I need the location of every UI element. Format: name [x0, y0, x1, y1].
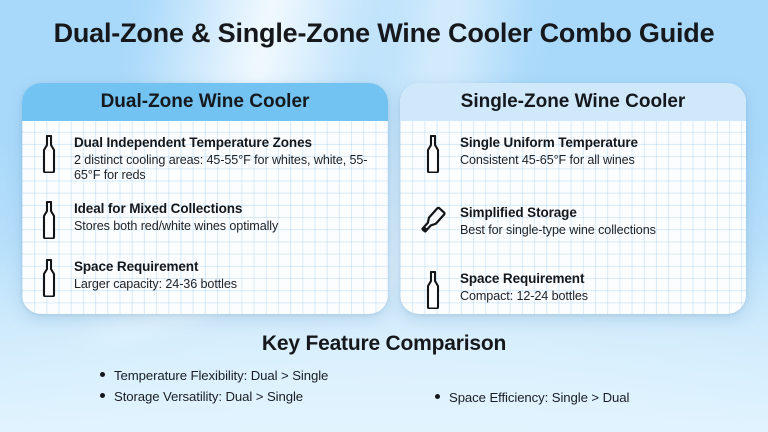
list-item-label: Storage Versatility: Dual > Single	[114, 386, 303, 407]
feature-title: Space Requirement	[460, 271, 584, 286]
wine-bottle-icon	[36, 257, 62, 297]
card-dual-zone: Dual-Zone Wine Cooler Dual Independent T…	[22, 83, 388, 314]
card-dual-zone-body: Dual Independent Temperature Zones 2 dis…	[22, 121, 388, 297]
feature-item: Single Uniform Temperature Consistent 45…	[418, 133, 732, 173]
feature-text: Single Uniform Temperature Consistent 45…	[460, 133, 638, 168]
wine-bottle-icon	[418, 133, 448, 173]
comparison-title: Key Feature Comparison	[0, 332, 768, 356]
wine-bottle-icon	[418, 269, 448, 309]
feature-text: Ideal for Mixed Collections Stores both …	[74, 199, 278, 234]
wine-bottle-icon	[36, 199, 62, 239]
bullet-icon	[435, 394, 440, 399]
feature-item: Space Requirement Compact: 12-24 bottles	[418, 269, 732, 309]
comparison-column-right: Space Efficiency: Single > Dual	[435, 387, 629, 408]
feature-text: Space Requirement Larger capacity: 24-36…	[74, 257, 237, 292]
comparison-column-left: Temperature Flexibility: Dual > Single S…	[100, 365, 328, 408]
feature-item: Ideal for Mixed Collections Stores both …	[36, 199, 374, 239]
card-dual-zone-header: Dual-Zone Wine Cooler	[22, 83, 388, 121]
comparison-columns: Temperature Flexibility: Dual > Single S…	[0, 365, 768, 423]
feature-text: Simplified Storage Best for single-type …	[460, 203, 656, 238]
feature-title: Simplified Storage	[460, 205, 577, 220]
feature-description: Stores both red/white wines optimally	[74, 219, 278, 234]
feature-description: Best for single-type wine collections	[460, 223, 656, 238]
feature-title: Single Uniform Temperature	[460, 135, 638, 150]
feature-title: Ideal for Mixed Collections	[74, 201, 242, 216]
feature-item: Space Requirement Larger capacity: 24-36…	[36, 257, 374, 297]
card-single-zone-body: Single Uniform Temperature Consistent 45…	[400, 121, 746, 309]
feature-description: Larger capacity: 24-36 bottles	[74, 277, 237, 292]
list-item: Temperature Flexibility: Dual > Single	[100, 365, 328, 386]
page-title: Dual-Zone & Single-Zone Wine Cooler Comb…	[0, 18, 768, 49]
list-item: Space Efficiency: Single > Dual	[435, 387, 629, 408]
feature-title: Dual Independent Temperature Zones	[74, 135, 312, 150]
list-item-label: Temperature Flexibility: Dual > Single	[114, 365, 328, 386]
feature-item: Simplified Storage Best for single-type …	[418, 203, 732, 243]
feature-text: Space Requirement Compact: 12-24 bottles	[460, 269, 588, 304]
feature-text: Dual Independent Temperature Zones 2 dis…	[74, 133, 374, 183]
card-single-zone-header: Single-Zone Wine Cooler	[400, 83, 746, 121]
list-item: Storage Versatility: Dual > Single	[100, 386, 328, 407]
feature-description: Compact: 12-24 bottles	[460, 289, 588, 304]
feature-item: Dual Independent Temperature Zones 2 dis…	[36, 133, 374, 183]
wine-bottle-icon	[36, 133, 62, 173]
tilted-wine-bottle-icon	[418, 203, 448, 243]
bullet-icon	[100, 372, 105, 377]
card-single-zone: Single-Zone Wine Cooler Single Uniform T…	[400, 83, 746, 314]
bullet-icon	[100, 393, 105, 398]
feature-title: Space Requirement	[74, 259, 198, 274]
key-feature-comparison-section: Key Feature Comparison Temperature Flexi…	[0, 332, 768, 423]
list-item-label: Space Efficiency: Single > Dual	[449, 387, 629, 408]
feature-description: Consistent 45-65°F for all wines	[460, 153, 638, 168]
feature-description: 2 distinct cooling areas: 45-55°F for wh…	[74, 153, 374, 183]
